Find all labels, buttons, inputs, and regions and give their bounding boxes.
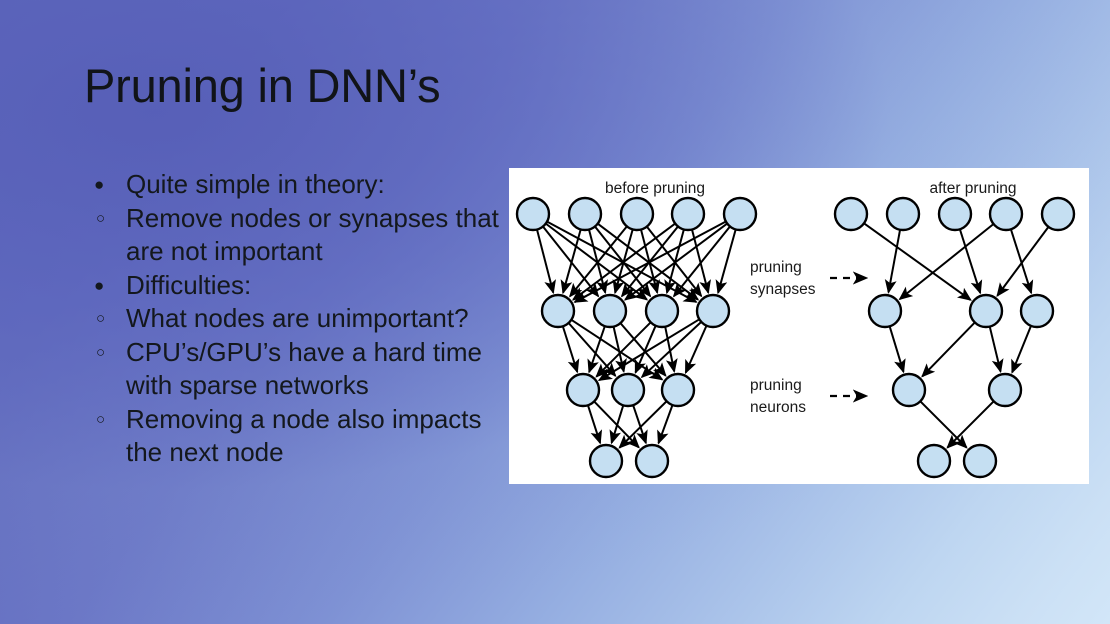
network-node <box>887 198 919 230</box>
network-node <box>1042 198 1074 230</box>
network-node <box>939 198 971 230</box>
network-node <box>697 295 729 327</box>
bullet-text: Quite simple in theory: <box>126 169 385 199</box>
network-node <box>724 198 756 230</box>
network-edge <box>922 322 975 376</box>
diagram-heading-after: after pruning <box>929 180 1016 197</box>
network-edge <box>947 401 993 447</box>
pruning-neurons-label-line2: neurons <box>750 399 806 416</box>
bullet-list: ● Quite simple in theory: ○ Remove nodes… <box>88 168 518 470</box>
network-node <box>612 374 644 406</box>
pruning-synapses-label-group: pruning synapses <box>750 259 866 298</box>
network-node <box>970 295 1002 327</box>
network-node <box>594 295 626 327</box>
after-network-edges <box>864 223 1048 447</box>
network-edge <box>563 326 577 372</box>
pruning-synapses-label-line2: synapses <box>750 281 816 298</box>
network-node <box>569 198 601 230</box>
network-node <box>835 198 867 230</box>
pruning-synapses-label-line1: pruning <box>750 259 802 276</box>
pruning-neurons-label-line1: pruning <box>750 377 802 394</box>
network-edge <box>990 327 1001 372</box>
network-edge <box>573 224 675 300</box>
network-node <box>567 374 599 406</box>
network-node <box>590 445 622 477</box>
network-node <box>893 374 925 406</box>
network-node <box>542 295 574 327</box>
network-edge <box>920 401 966 447</box>
sub-bullet-item: ○ Removing a node also impacts the next … <box>88 403 518 470</box>
diagram-heading-before: before pruning <box>605 180 705 197</box>
pruning-neurons-label-group: pruning neurons <box>750 377 866 416</box>
network-edge <box>1012 326 1031 373</box>
sub-bullet-item: ○ CPU’s/GPU’s have a hard time with spar… <box>88 336 518 403</box>
network-edge <box>636 326 656 373</box>
pruning-diagram-svg: before pruning after pruning pruning syn… <box>509 168 1089 484</box>
bullet-item: ● Difficulties: <box>88 269 518 303</box>
sub-bullet-marker-icon: ○ <box>96 302 105 336</box>
network-edge <box>1011 229 1031 293</box>
network-node <box>990 198 1022 230</box>
network-node <box>646 295 678 327</box>
sub-bullet-text: CPU’s/GPU’s have a hard time with sparse… <box>126 337 482 401</box>
bullet-item: ● Quite simple in theory: <box>88 168 518 202</box>
network-edge <box>659 405 673 443</box>
sub-bullet-list: ○ Remove nodes or synapses that are not … <box>88 202 518 269</box>
pruning-diagram-panel: before pruning after pruning pruning syn… <box>509 168 1089 484</box>
sub-bullet-marker-icon: ○ <box>96 403 105 437</box>
network-node <box>964 445 996 477</box>
network-node <box>672 198 704 230</box>
network-edge <box>612 405 624 443</box>
network-edge <box>888 230 900 293</box>
network-node <box>989 374 1021 406</box>
sub-bullet-text: Removing a node also impacts the next no… <box>126 404 482 468</box>
bullet-text: Difficulties: <box>126 270 251 300</box>
network-node <box>517 198 549 230</box>
network-node <box>918 445 950 477</box>
network-edge <box>864 223 971 300</box>
sub-bullet-item: ○ What nodes are unimportant? <box>88 302 518 336</box>
slide-canvas: Pruning in DNN’s ● Quite simple in theor… <box>0 0 1110 624</box>
network-node <box>621 198 653 230</box>
network-edge <box>588 405 600 443</box>
bullet-marker-icon: ● <box>94 168 104 202</box>
network-edge <box>960 229 980 293</box>
network-edge <box>589 229 605 292</box>
network-node <box>662 374 694 406</box>
network-edge <box>625 224 727 300</box>
network-edge <box>537 229 553 292</box>
sub-bullet-list: ○ What nodes are unimportant? ○ CPU’s/GP… <box>88 302 518 470</box>
sub-bullet-text: Remove nodes or synapses that are not im… <box>126 203 499 267</box>
network-edge <box>997 227 1048 296</box>
network-node <box>636 445 668 477</box>
bullet-marker-icon: ● <box>94 269 104 303</box>
sub-bullet-item: ○ Remove nodes or synapses that are not … <box>88 202 518 269</box>
network-edge <box>890 326 904 372</box>
sub-bullet-marker-icon: ○ <box>96 336 105 370</box>
sub-bullet-marker-icon: ○ <box>96 202 105 236</box>
network-node <box>1021 295 1053 327</box>
network-node <box>869 295 901 327</box>
page-title: Pruning in DNN’s <box>84 60 440 112</box>
sub-bullet-text: What nodes are unimportant? <box>126 303 469 333</box>
before-network-edges <box>537 222 736 448</box>
